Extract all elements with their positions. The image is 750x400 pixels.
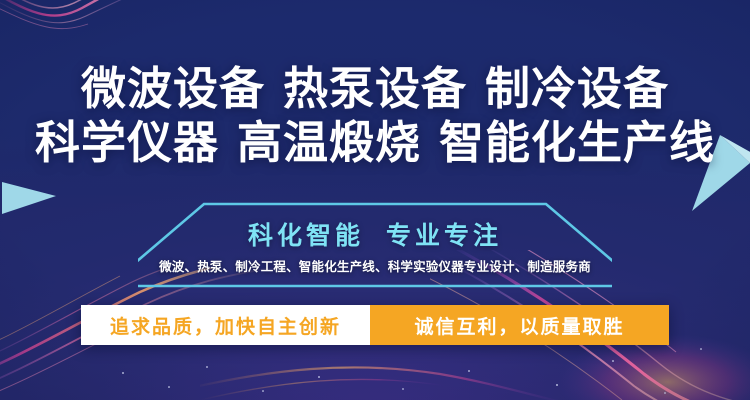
slogan-bar-left[interactable]: 追求品质，加快自主创新 <box>81 305 370 345</box>
headline-line1-part2: 热泵设备 <box>283 63 467 114</box>
tagline-part2: 专业专注 <box>386 222 502 250</box>
headline-line2-part2: 高温煅烧 <box>237 117 421 168</box>
hexagon-tagline: 科化智能专业专注 <box>138 216 612 252</box>
headline-line2-part3: 智能化生产线 <box>439 117 715 168</box>
page-title: 微波设备热泵设备制冷设备 科学仪器高温煅烧智能化生产线 <box>0 62 750 170</box>
headline-line-2: 科学仪器高温煅烧智能化生产线 <box>0 116 750 170</box>
headline-line1-part1: 微波设备 <box>81 63 265 114</box>
headline-line2-part1: 科学仪器 <box>35 117 219 168</box>
headline-line-1: 微波设备热泵设备制冷设备 <box>0 62 750 116</box>
promo-banner: 微波设备热泵设备制冷设备 科学仪器高温煅烧智能化生产线 科化智能专业专注 微波、… <box>0 0 750 400</box>
hexagon-badge: 科化智能专业专注 微波、热泵、制冷工程、智能化生产线、科学实验仪器专业设计、制造… <box>138 198 612 290</box>
tagline-part1: 科化智能 <box>248 222 364 250</box>
triangle-right-icon <box>2 182 56 214</box>
hexagon-subtitle: 微波、热泵、制冷工程、智能化生产线、科学实验仪器专业设计、制造服务商 <box>118 256 632 275</box>
headline-line1-part3: 制冷设备 <box>485 63 669 114</box>
slogan-bar-group: 追求品质，加快自主创新 诚信互利，以质量取胜 <box>81 305 669 345</box>
slogan-bar-right[interactable]: 诚信互利，以质量取胜 <box>370 305 669 345</box>
